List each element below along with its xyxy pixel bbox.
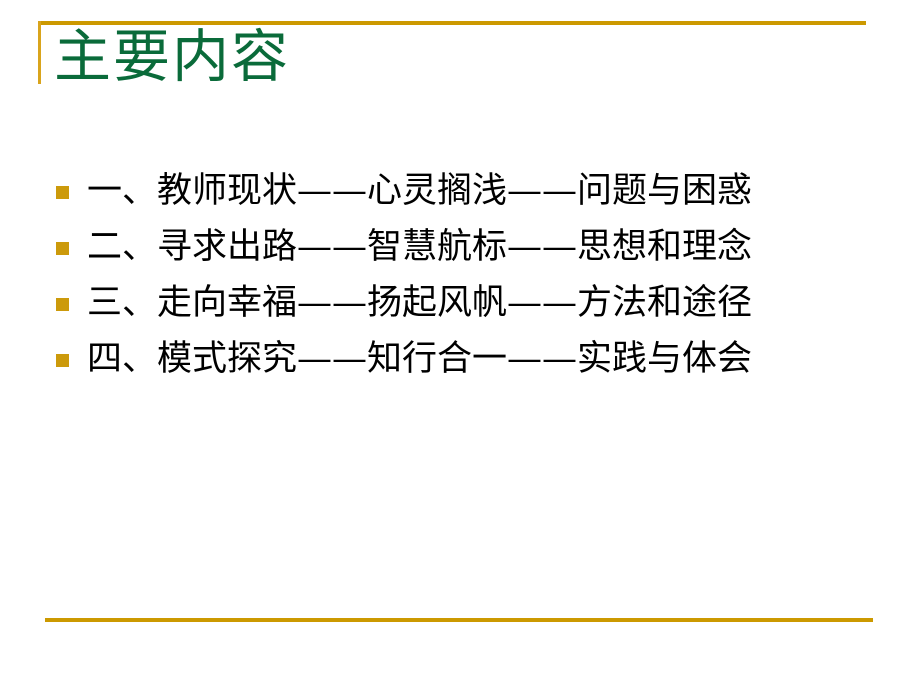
square-bullet-icon xyxy=(56,186,69,199)
list-item: 二、寻求出路——智慧航标——思想和理念 xyxy=(56,219,886,275)
content-bullet-list: 一、教师现状——心灵搁浅——问题与困惑 二、寻求出路——智慧航标——思想和理念 … xyxy=(56,163,886,387)
list-item: 四、模式探究——知行合一——实践与体会 xyxy=(56,331,886,387)
square-bullet-icon xyxy=(56,354,69,367)
presentation-slide: 主要内容 一、教师现状——心灵搁浅——问题与困惑 二、寻求出路——智慧航标——思… xyxy=(0,0,920,690)
list-item-label: 四、模式探究——知行合一——实践与体会 xyxy=(87,342,886,377)
square-bullet-icon xyxy=(56,242,69,255)
list-item-label: 一、教师现状——心灵搁浅——问题与困惑 xyxy=(87,174,886,209)
list-item: 一、教师现状——心灵搁浅——问题与困惑 xyxy=(56,163,886,219)
footer-rule xyxy=(45,618,873,622)
list-item-label: 三、走向幸福——扬起风帆——方法和途径 xyxy=(87,286,886,321)
title-left-rule xyxy=(38,21,41,84)
list-item: 三、走向幸福——扬起风帆——方法和途径 xyxy=(56,275,886,331)
list-item-label: 二、寻求出路——智慧航标——思想和理念 xyxy=(87,230,886,265)
slide-title: 主要内容 xyxy=(54,26,290,90)
square-bullet-icon xyxy=(56,298,69,311)
